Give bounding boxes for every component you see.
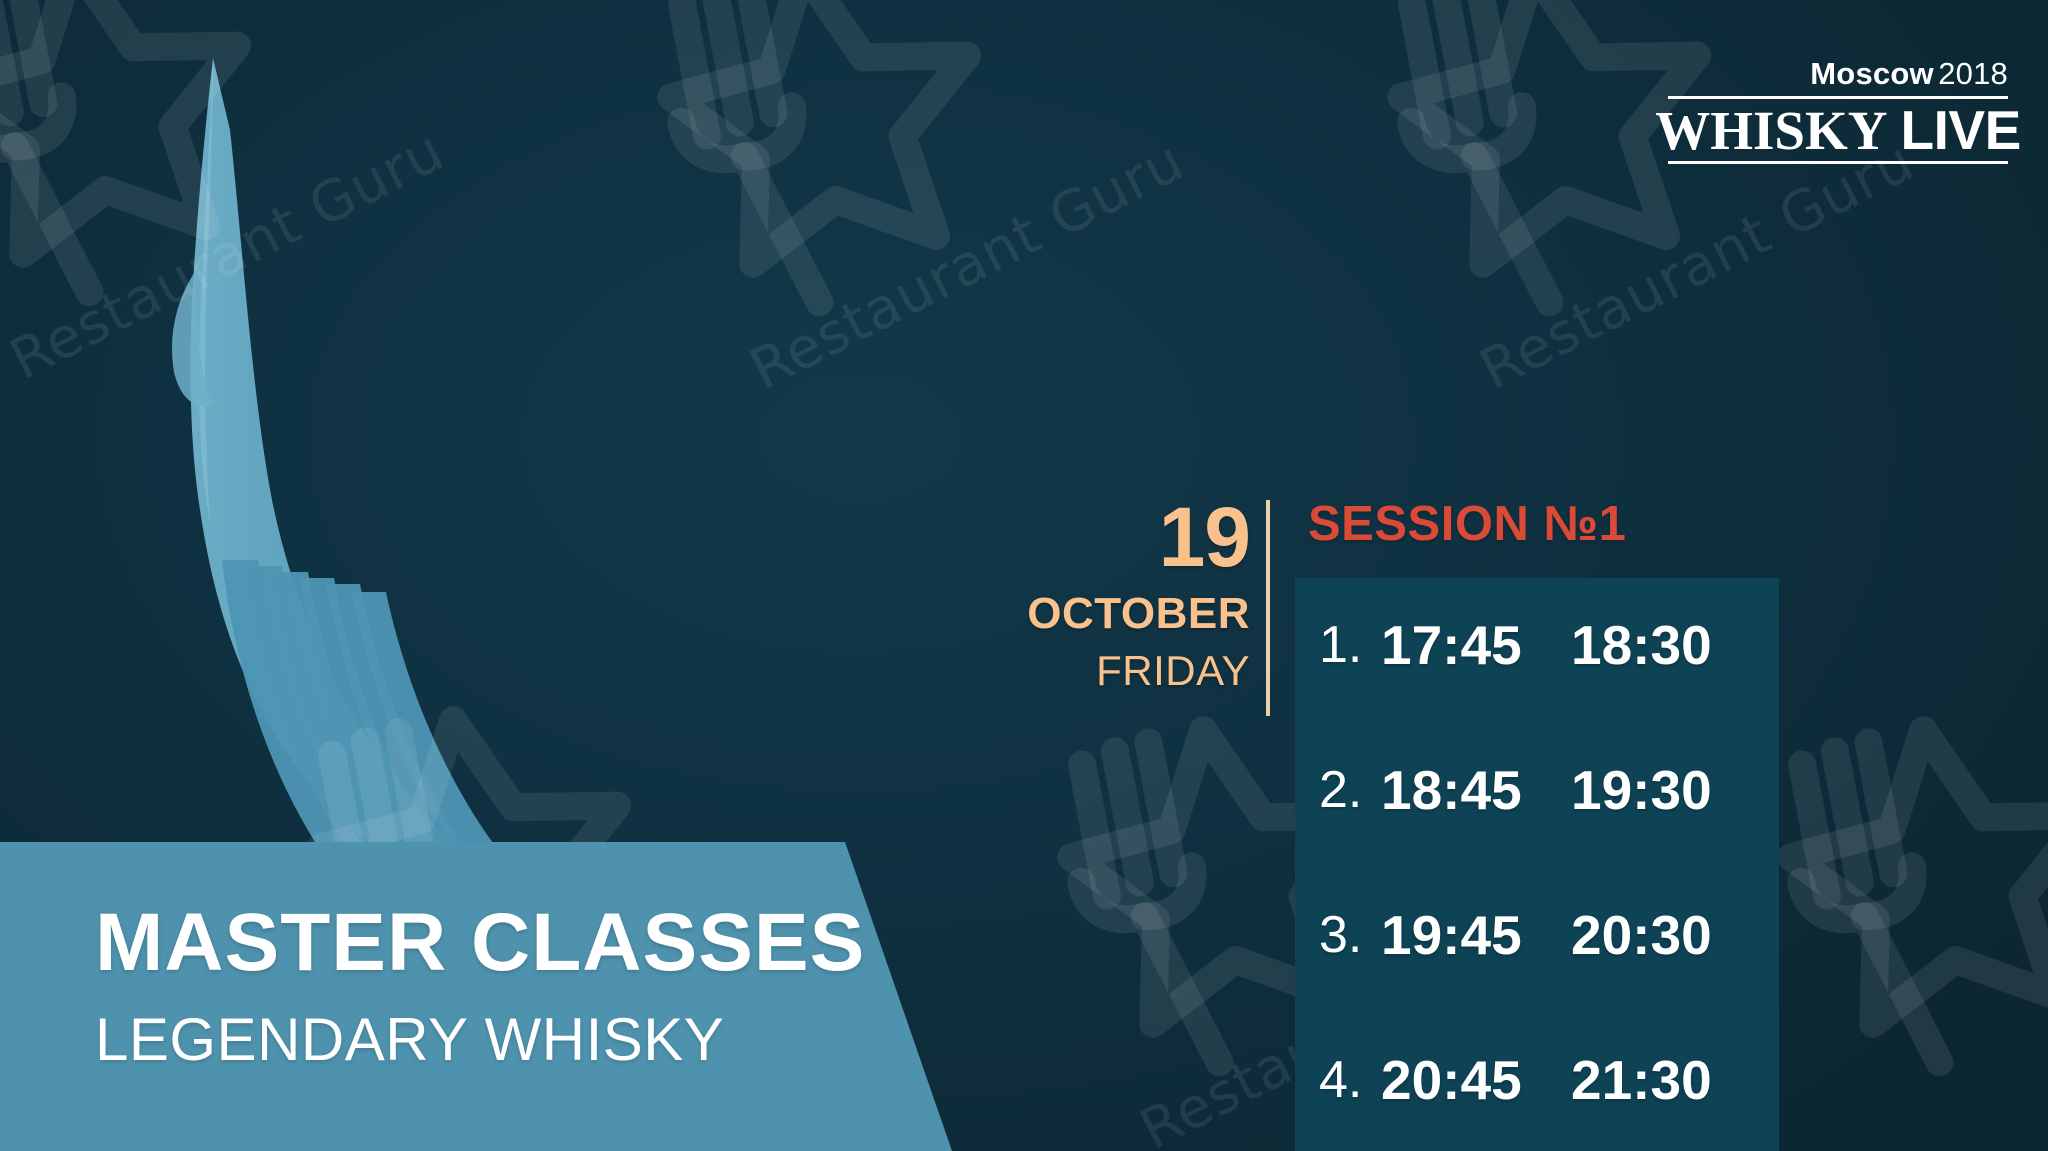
row-start-time: 17:45 [1381,613,1571,677]
table-row: 3. 19:45 20:30 [1295,886,1779,983]
whisky-live-logo: Moscow 2018 WHISKY LIVE [1668,58,2008,164]
date-day: 19 [1020,498,1250,578]
logo-rule-bottom [1668,161,2008,164]
logo-whisky-word: WHISKY [1655,103,1887,158]
row-end-time: 20:30 [1571,903,1712,967]
row-end-time: 21:30 [1571,1048,1712,1112]
logo-city-year: Moscow 2018 [1668,58,2008,89]
row-index: 3. [1295,905,1381,965]
row-start-time: 18:45 [1381,758,1571,822]
session-title: SESSION №1 [1308,500,1626,549]
row-start-time: 20:45 [1381,1048,1571,1112]
row-index: 1. [1295,615,1381,675]
date-block: 19 OCTOBER FRIDAY [1020,498,1250,692]
banner-title: MASTER CLASSES [95,902,865,984]
table-row: 4. 20:45 21:30 [1295,1031,1779,1128]
table-row: 1. 17:45 18:30 [1295,596,1779,693]
watermark-text: Restaurant Guru [1470,129,1924,403]
logo-wordmark: WHISKY LIVE [1668,99,2008,161]
table-row: 2. 18:45 19:30 [1295,741,1779,838]
session-times-box: 1. 17:45 18:30 2. 18:45 19:30 3. 19:45 2… [1295,578,1779,1151]
banner-subtitle: LEGENDARY WHISKY [95,1010,865,1070]
fork-and-star-icon [1350,0,1780,350]
logo-live-word: LIVE [1901,103,2021,158]
fork-and-star-icon [1740,680,2048,1110]
banner-text-group: MASTER CLASSES LEGENDARY WHISKY [95,902,865,1070]
row-index: 2. [1295,760,1381,820]
logo-year: 2018 [1938,56,2008,91]
vertical-divider [1266,500,1270,716]
row-end-time: 18:30 [1571,613,1712,677]
logo-city: Moscow [1810,56,1934,91]
row-index: 4. [1295,1050,1381,1110]
date-weekday: FRIDAY [1020,650,1250,692]
master-classes-banner: MASTER CLASSES LEGENDARY WHISKY [0,838,960,1151]
poster-canvas: Restaurant Guru Restaurant Guru Restaura… [0,0,2048,1151]
date-month: OCTOBER [1020,592,1250,636]
row-end-time: 19:30 [1571,758,1712,822]
row-start-time: 19:45 [1381,903,1571,967]
